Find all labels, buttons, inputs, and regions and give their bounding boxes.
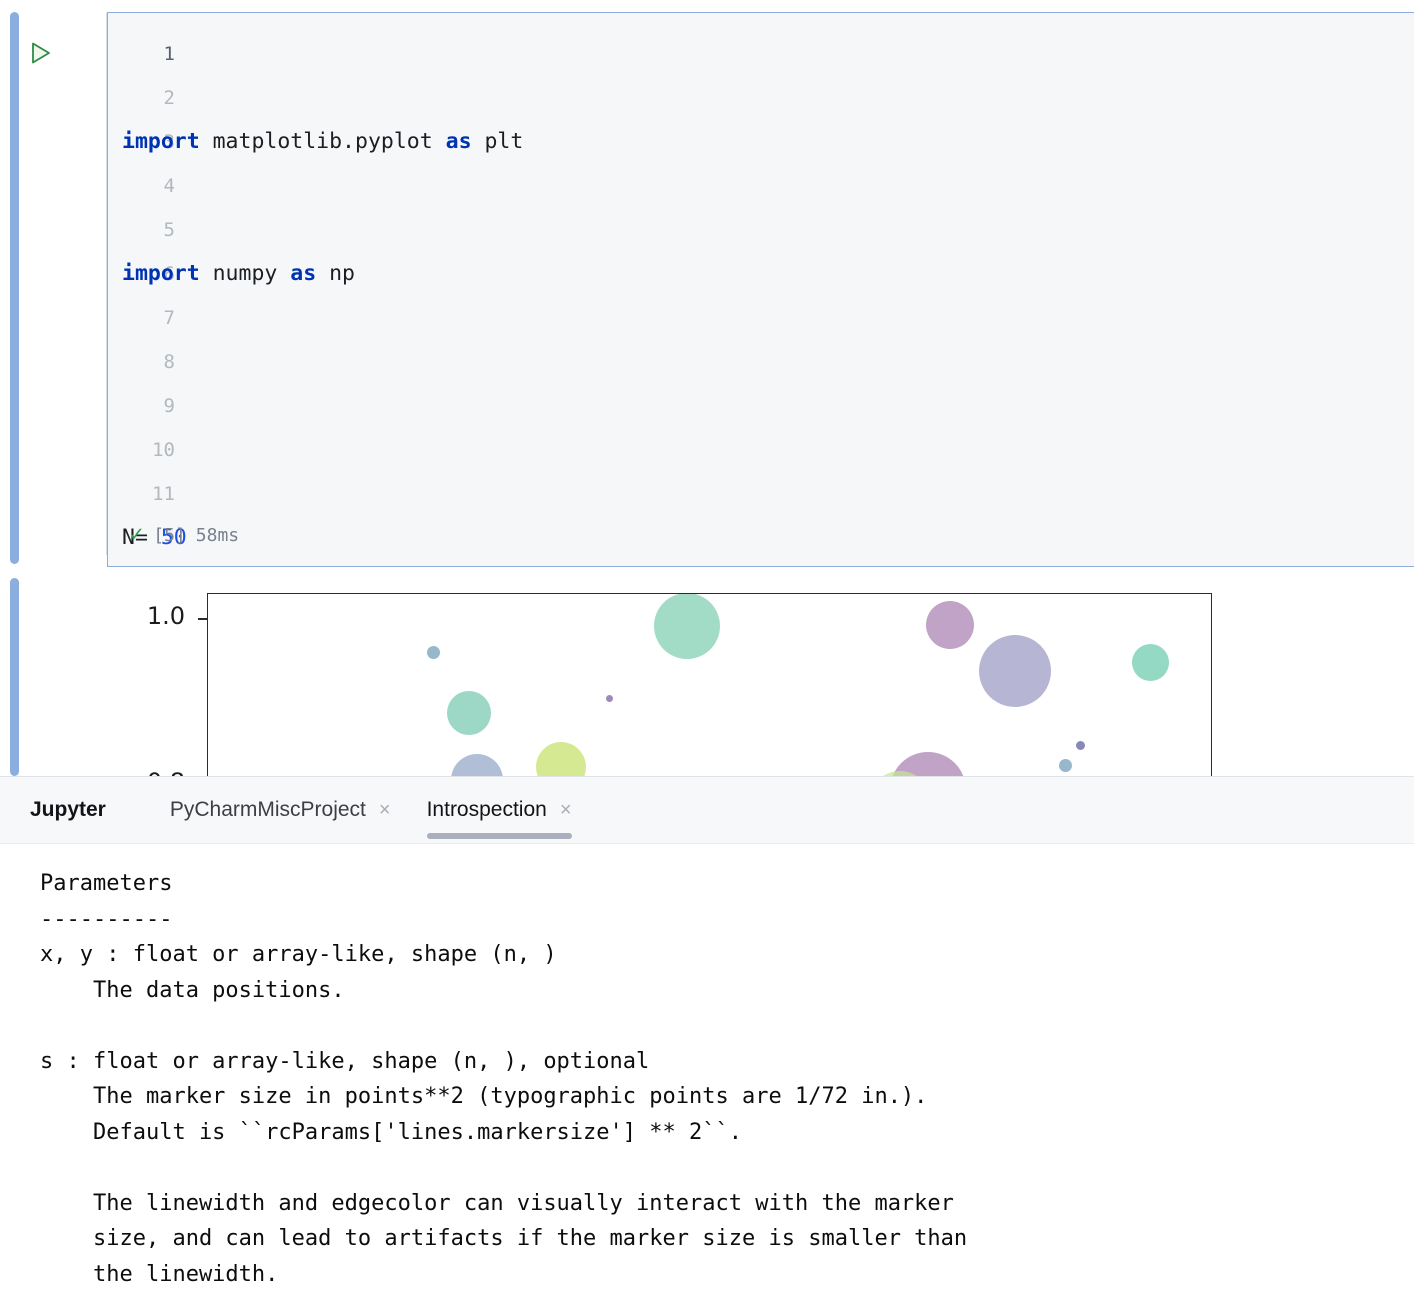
y-tick-label: 1.0 [115, 602, 185, 630]
y-tick-mark [198, 618, 207, 620]
scatter-point [979, 635, 1051, 707]
output-cell-gutter-bar [10, 578, 19, 776]
scatter-point [1076, 741, 1085, 750]
tab-introspection[interactable]: Introspection × [409, 777, 590, 843]
code-cell-gutter-bar [10, 12, 19, 564]
notebook-screen: 1 2 3 4 5 6 7 8 9 10 11 import matplotli… [0, 0, 1414, 1294]
check-icon: ✓ [130, 524, 143, 546]
code-line-3 [122, 384, 718, 428]
tab-pycharmmiscproject[interactable]: PyCharmMiscProject × [152, 777, 409, 843]
scatter-point [536, 742, 586, 776]
notebook-editor: 1 2 3 4 5 6 7 8 9 10 11 import matplotli… [0, 0, 1414, 776]
y-tick-label: 0.8 [115, 768, 185, 776]
tool-window-title: Jupyter [30, 798, 106, 822]
code-line-1: import matplotlib.pyplot as plt [122, 120, 718, 164]
cell-output-chart: 1.00.8 [107, 580, 1414, 776]
run-cell-triangle-icon[interactable] [28, 40, 54, 66]
active-tab-indicator [427, 833, 572, 839]
scatter-point [926, 601, 974, 649]
introspection-panel[interactable]: Parameters ---------- x, y : float or ar… [0, 844, 1414, 1294]
scatter-point [1059, 759, 1072, 772]
tab-label: PyCharmMiscProject [170, 798, 366, 822]
scatter-point [427, 646, 440, 659]
tool-window-header: Jupyter PyCharmMiscProject × Introspecti… [0, 777, 1414, 844]
scatter-point [654, 593, 720, 659]
tab-label: Introspection [427, 798, 547, 822]
tool-window-tabs: PyCharmMiscProject × Introspection × [152, 777, 590, 843]
code-line-2: import numpy as np [122, 252, 718, 296]
docstring-text: Parameters ---------- x, y : float or ar… [40, 866, 1414, 1292]
scatter-point [447, 691, 491, 735]
execution-duration: 58ms [196, 525, 239, 546]
scatter-point [1132, 644, 1169, 681]
close-icon[interactable]: × [560, 800, 572, 820]
scatter-plot-area [207, 593, 1212, 776]
jupyter-tool-window: Jupyter PyCharmMiscProject × Introspecti… [0, 776, 1414, 1294]
scatter-point [451, 754, 503, 776]
execution-status: ✓ [5] 58ms [130, 524, 239, 546]
execution-count: [5] [153, 525, 186, 546]
close-icon[interactable]: × [379, 800, 391, 820]
scatter-point [606, 695, 613, 702]
